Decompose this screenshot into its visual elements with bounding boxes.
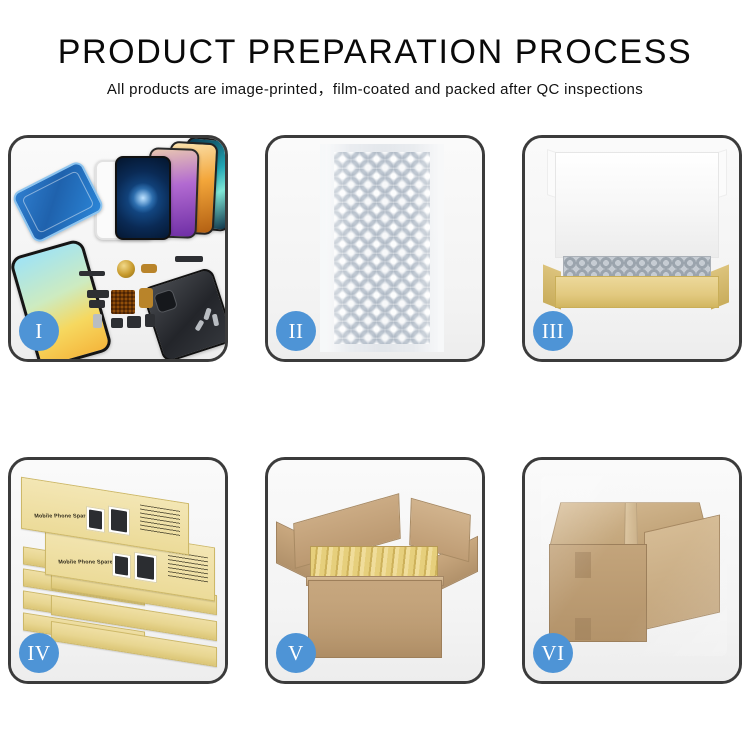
box-window-right: [108, 505, 130, 535]
antenna-strip-icon: [175, 256, 203, 262]
sleeve-gloss: [326, 144, 438, 352]
flex-cable-icon: [141, 264, 157, 273]
sealed-carton-icon: [549, 544, 647, 642]
step-panel-6: VI: [522, 457, 742, 684]
metal-pin-icon: [93, 314, 102, 328]
flex-cable-2-icon: [139, 288, 153, 308]
steps-grid: I II III: [8, 135, 742, 684]
box-window-left: [86, 506, 105, 533]
header: PRODUCT PREPARATION PROCESS All products…: [0, 32, 750, 100]
box-white-lid-icon: [555, 152, 719, 258]
box-window-right: [134, 552, 157, 584]
step-badge-5: V: [276, 633, 316, 673]
battery-connector-icon: [145, 314, 155, 327]
phone-blue-screen-icon: [115, 156, 171, 240]
step-badge-1: I: [19, 311, 59, 351]
adhesive-sheet-icon: [11, 159, 106, 244]
sim-tray-grid-icon: [111, 290, 135, 314]
step-panel-4: Mobile Phone Spare Parts Mobile Phone Sp…: [8, 457, 228, 684]
bubble-wrap-sleeve-icon: [320, 144, 444, 352]
step-panel-1: I: [8, 135, 228, 362]
camera-module-icon: [127, 316, 141, 328]
open-carton-icon: [308, 580, 442, 658]
step-badge-6: VI: [533, 633, 573, 673]
carton-side-face: [644, 514, 720, 630]
step-panel-5: V: [265, 457, 485, 684]
packing-tape-icon: [624, 503, 638, 547]
product-preparation-infographic: PRODUCT PREPARATION PROCESS All products…: [0, 0, 750, 750]
speaker-coil-icon: [117, 260, 135, 278]
box-window-left: [112, 552, 131, 579]
button-icon: [111, 318, 123, 328]
step-badge-3: III: [533, 311, 573, 351]
step-badge-2: II: [276, 311, 316, 351]
bracket-icon: [89, 300, 105, 308]
step-panel-3: III: [522, 135, 742, 362]
earpiece-mesh-icon: [79, 271, 105, 276]
connector-icon: [87, 290, 109, 298]
kraft-box-base-icon: [555, 276, 719, 308]
page-subtitle: All products are image-printed，film-coat…: [0, 80, 750, 100]
carton-seam-bottom: [575, 618, 591, 640]
step-panel-2: II: [265, 135, 485, 362]
page-title: PRODUCT PREPARATION PROCESS: [0, 32, 750, 72]
carton-seam-top: [575, 552, 591, 578]
step-badge-4: IV: [19, 633, 59, 673]
